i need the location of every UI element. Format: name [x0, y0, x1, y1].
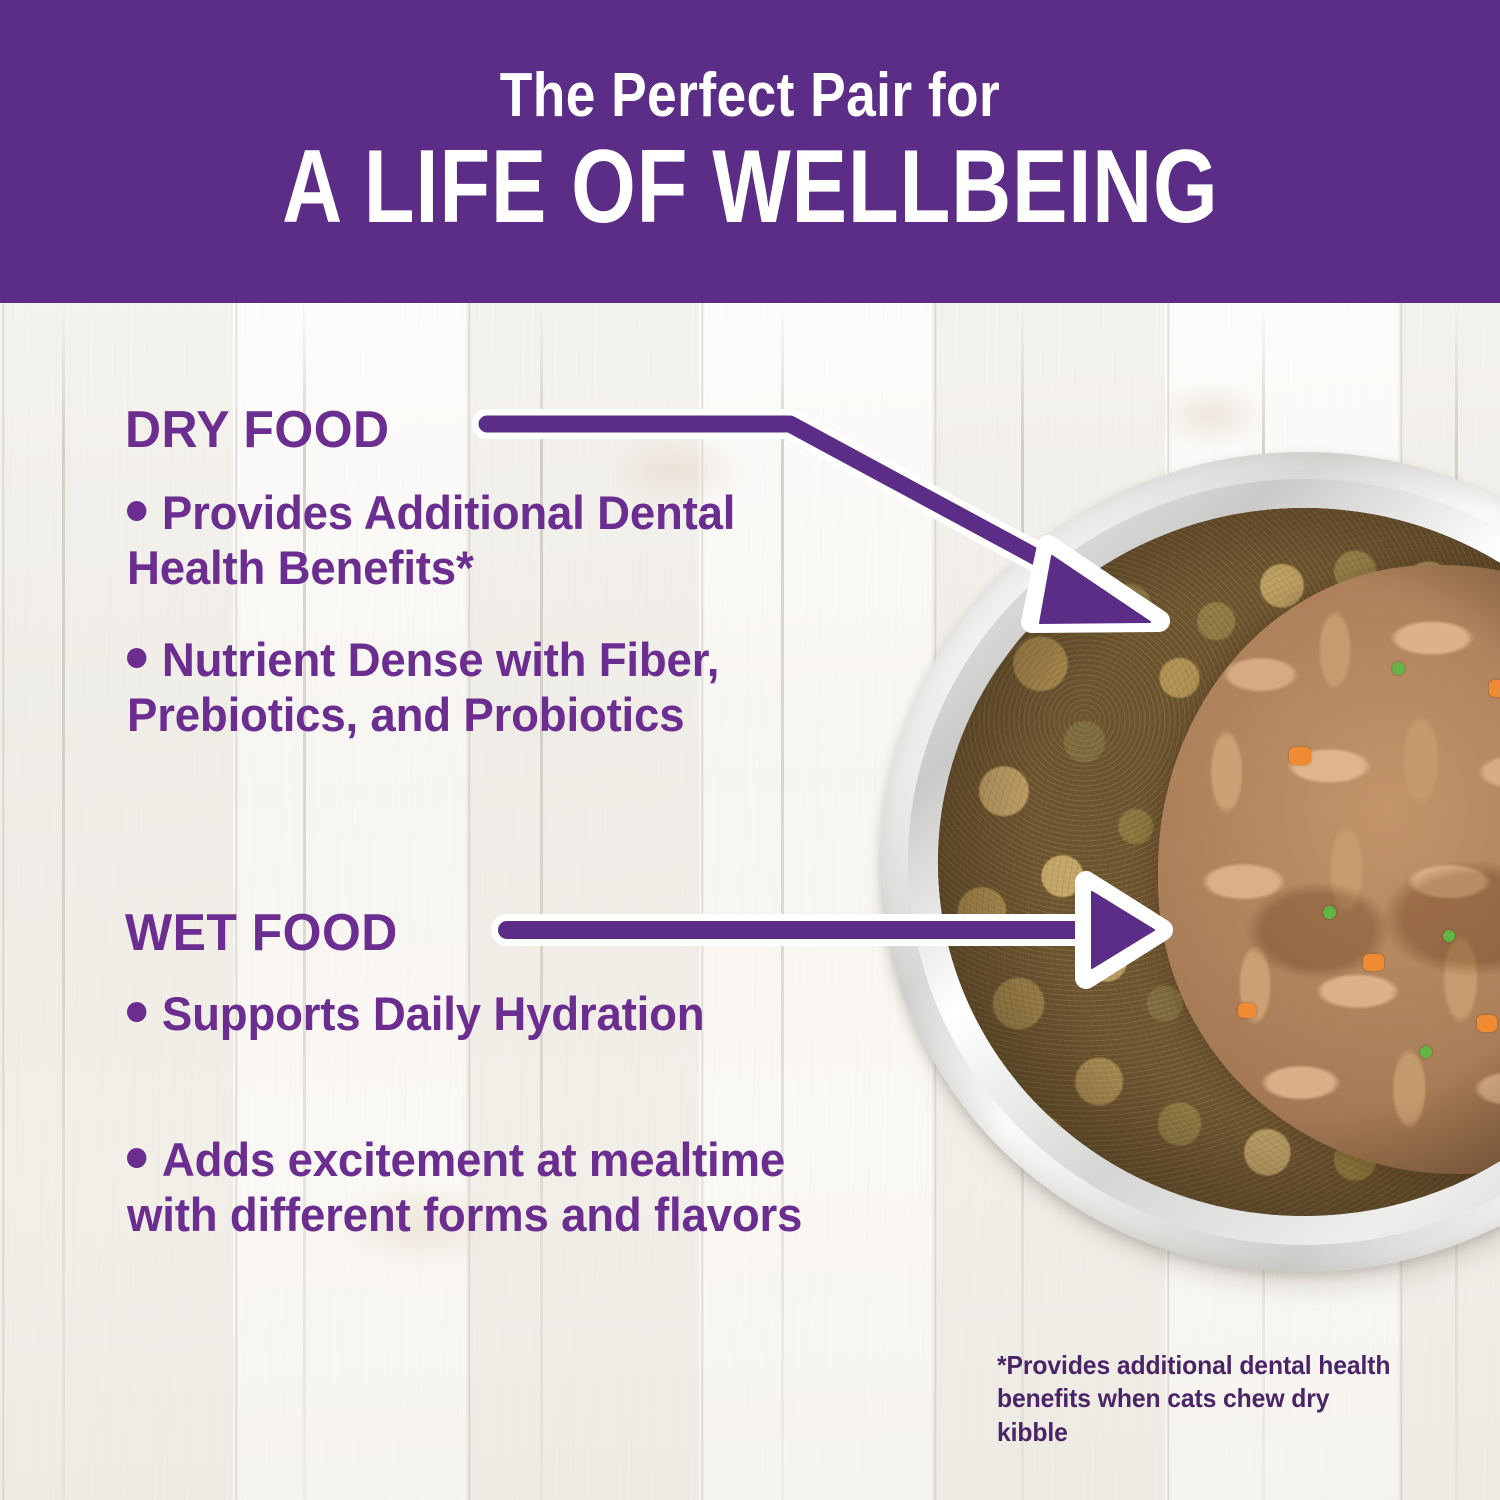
bullet-wet-1: Supports Daily Hydration [127, 987, 825, 1042]
plank-seam [1021, 303, 1024, 1500]
bullet-dot-icon [127, 648, 146, 668]
bullet-dot-icon [127, 1148, 146, 1168]
header-banner: The Perfect Pair for A LIFE OF WELLBEING [0, 0, 1500, 303]
bullet-wet-2: Adds excitement at mealtime with differe… [127, 1133, 825, 1243]
bullet-dry-2: Nutrient Dense with Fiber, Prebiotics, a… [127, 633, 825, 743]
advertisement-canvas: The Perfect Pair for A LIFE OF WELLBEING [0, 0, 1500, 1500]
footnote-text: *Provides additional dental health benef… [997, 1349, 1406, 1449]
copy-column: DRY FOOD Provides Additional Dental Heal… [0, 303, 900, 1500]
plank-seam [1455, 303, 1458, 1500]
plank-seam [1262, 303, 1265, 1500]
bullet-dry-1-text: Provides Additional Dental Health Benefi… [127, 486, 735, 594]
dry-food-heading: DRY FOOD [125, 400, 390, 460]
header-subtitle: The Perfect Pair for [500, 65, 1000, 127]
bullet-dot-icon [127, 501, 146, 521]
bullet-dry-1: Provides Additional Dental Health Benefi… [127, 486, 825, 596]
header-title: A LIFE OF WELLBEING [282, 135, 1219, 239]
bullet-wet-2-text: Adds excitement at mealtime with differe… [127, 1133, 802, 1241]
bullet-dot-icon [127, 1002, 146, 1022]
bullet-dry-2-text: Nutrient Dense with Fiber, Prebiotics, a… [127, 633, 719, 741]
wet-food-heading: WET FOOD [125, 903, 398, 963]
bullet-wet-1-text: Supports Daily Hydration [162, 987, 705, 1040]
